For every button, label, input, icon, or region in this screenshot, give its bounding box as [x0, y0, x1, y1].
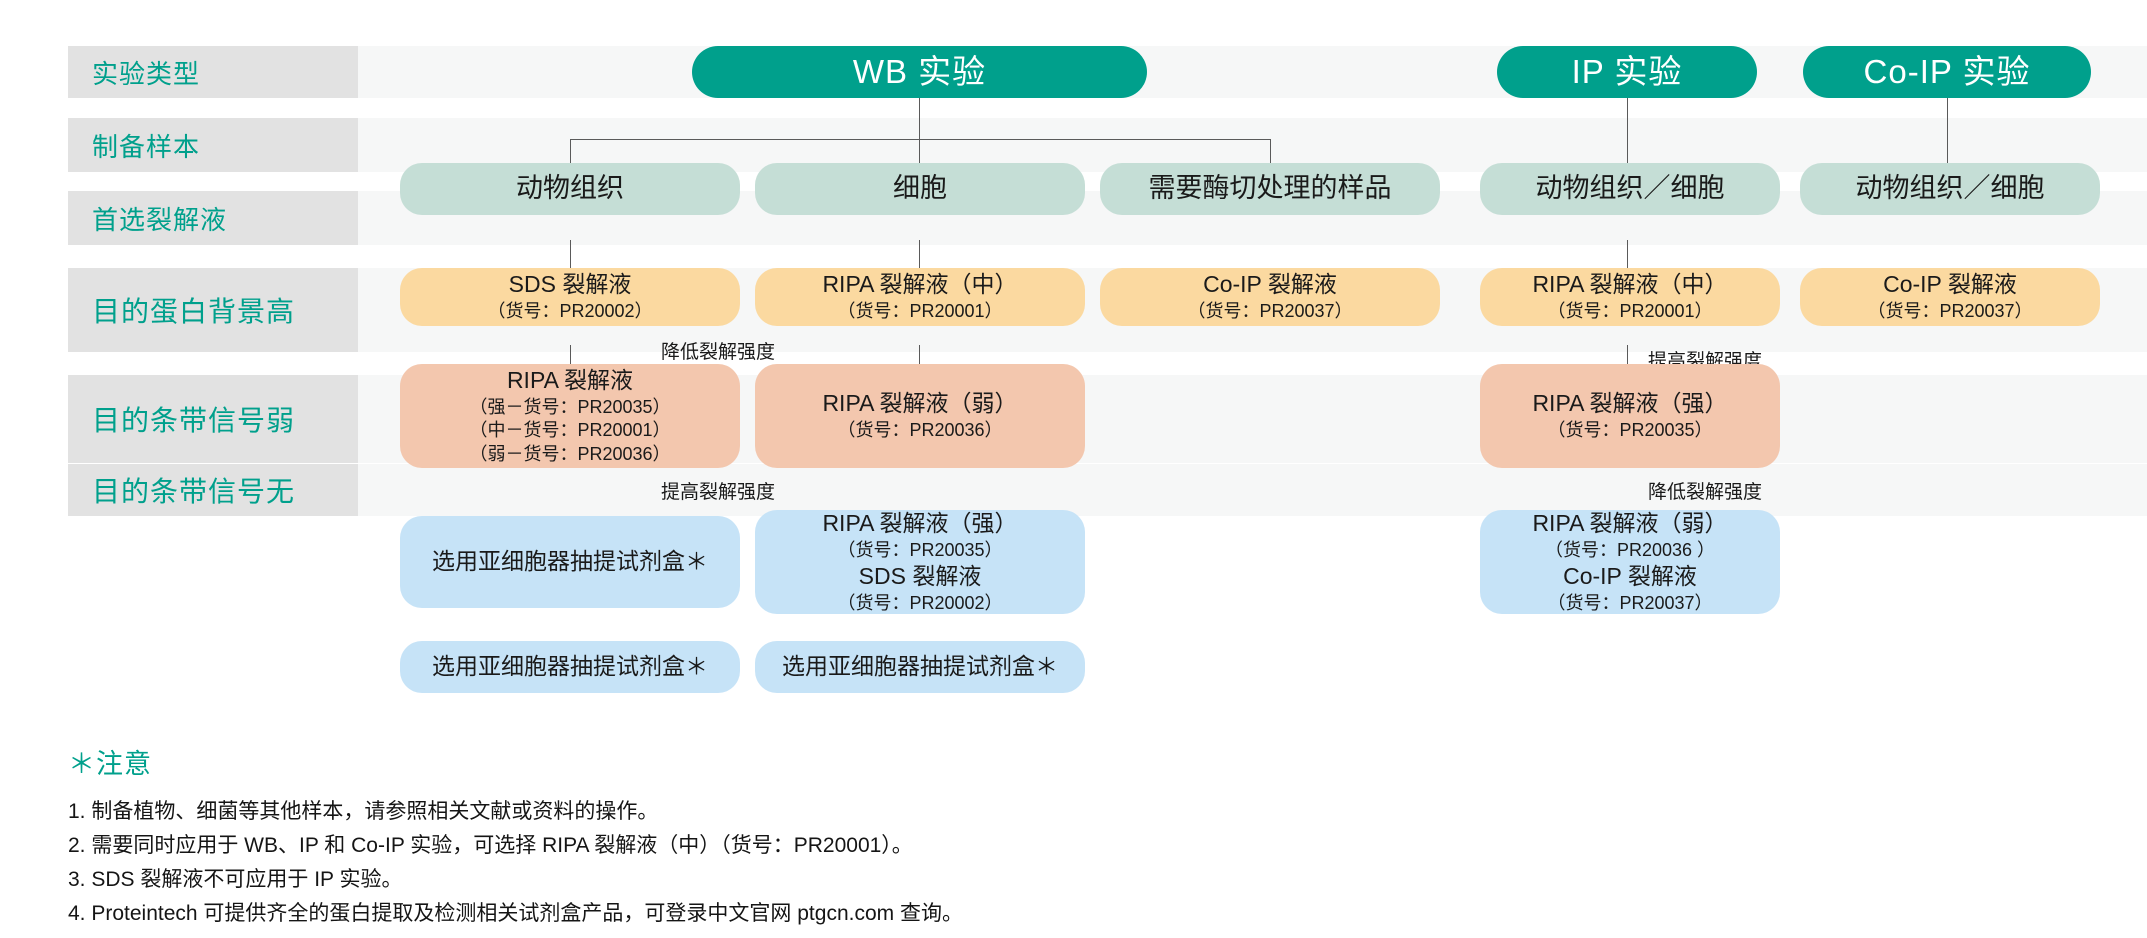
row-band-no-band	[68, 464, 2147, 516]
preferred-lysate-wb-tissue[interactable]: SDS 裂解液 （货号：PR20002）	[400, 268, 740, 326]
sample-label: 动物组织	[516, 171, 624, 206]
weak-band-ip[interactable]: RIPA 裂解液（弱） （货号：PR20036 ） Co-IP 裂解液 （货号：…	[1480, 510, 1780, 614]
row-label-no-band: 目的条带信号无	[68, 464, 358, 516]
flowchart-canvas: 实验类型 制备样本 首选裂解液 目的蛋白背景高 目的条带信号弱 目的条带信号无 …	[0, 0, 2147, 938]
lysate-catalog: （货号：PR20035）	[837, 539, 1002, 562]
row-band-weak-band	[68, 375, 2147, 463]
row-label-high-background: 目的蛋白背景高	[68, 268, 358, 352]
lysate-catalog: （货号：PR20037）	[1867, 300, 2032, 323]
note-item: 2. 需要同时应用于 WB、IP 和 Co-IP 实验，可选择 RIPA 裂解液…	[68, 829, 963, 863]
row-label-text: 目的条带信号无	[92, 470, 295, 510]
lysate-catalog: （货号：PR20002）	[487, 300, 652, 323]
connector-wb-stem	[919, 95, 920, 139]
caption-decrease-strength-ip: 降低裂解强度	[1648, 477, 1762, 504]
lysate-catalog: （弱－货号：PR20036）	[469, 443, 670, 466]
high-background-ip[interactable]: RIPA 裂解液（强） （货号：PR20035）	[1480, 364, 1780, 468]
row-label-weak-band: 目的条带信号弱	[68, 375, 358, 463]
lysate-name: RIPA 裂解液（强）	[1532, 389, 1727, 419]
high-background-wb-tissue[interactable]: RIPA 裂解液 （强－货号：PR20035） （中－货号：PR20001） （…	[400, 364, 740, 468]
row-label-text: 首选裂解液	[92, 200, 227, 237]
notes-title: ＊注意	[68, 742, 963, 781]
note-item: 3. SDS 裂解液不可应用于 IP 实验。	[68, 863, 963, 897]
notes-section: ＊注意 1. 制备植物、细菌等其他样本，请参照相关文献或资料的操作。 2. 需要…	[68, 742, 963, 931]
weak-band-wb-tissue[interactable]: 选用亚细胞器抽提试剂盒＊	[400, 516, 740, 608]
experiment-type-coip[interactable]: Co-IP 实验	[1803, 46, 2091, 98]
sample-coip-tissue-cell[interactable]: 动物组织／细胞	[1800, 163, 2100, 215]
experiment-type-label: WB 实验	[853, 51, 986, 94]
sample-label: 动物组织／细胞	[1856, 171, 2045, 206]
caption-decrease-strength-wb: 降低裂解强度	[661, 337, 775, 364]
no-band-wb-cell[interactable]: 选用亚细胞器抽提试剂盒＊	[755, 641, 1085, 693]
lysate-catalog: （货号：PR20035）	[1547, 419, 1712, 442]
experiment-type-label: IP 实验	[1572, 51, 1683, 94]
lysate-name: SDS 裂解液	[509, 270, 632, 300]
lysate-name: Co-IP 裂解液	[1203, 270, 1337, 300]
lysate-catalog: （中－货号：PR20001）	[469, 419, 670, 442]
experiment-type-wb[interactable]: WB 实验	[692, 46, 1147, 98]
row-label-text: 目的条带信号弱	[92, 399, 295, 439]
experiment-type-ip[interactable]: IP 实验	[1497, 46, 1757, 98]
lysate-name: RIPA 裂解液（弱）	[1532, 509, 1727, 539]
preferred-lysate-ip[interactable]: RIPA 裂解液（中） （货号：PR20001）	[1480, 268, 1780, 326]
row-label-text: 目的蛋白背景高	[92, 290, 295, 330]
lysate-catalog: （强－货号：PR20035）	[469, 396, 670, 419]
row-label-text: 制备样本	[92, 127, 200, 164]
caption-text: 降低裂解强度	[1648, 482, 1762, 503]
connector-wb-bus	[570, 139, 1270, 140]
sample-label: 需要酶切处理的样品	[1149, 171, 1392, 206]
row-label-experiment-type: 实验类型	[68, 46, 358, 98]
caption-text: 提高裂解强度	[661, 482, 775, 503]
lysate-catalog: （货号：PR20036）	[837, 419, 1002, 442]
preferred-lysate-wb-enzyme[interactable]: Co-IP 裂解液 （货号：PR20037）	[1100, 268, 1440, 326]
lysate-catalog: （货号：PR20001）	[837, 300, 1002, 323]
caption-increase-strength-wb: 提高裂解强度	[661, 477, 775, 504]
lysate-name: RIPA 裂解液（强）	[822, 509, 1017, 539]
sample-animal-tissue[interactable]: 动物组织	[400, 163, 740, 215]
no-band-wb-tissue[interactable]: 选用亚细胞器抽提试剂盒＊	[400, 641, 740, 693]
sample-label: 细胞	[893, 171, 947, 206]
weak-band-wb-cell[interactable]: RIPA 裂解液（强） （货号：PR20035） SDS 裂解液 （货号：PR2…	[755, 510, 1085, 614]
sample-ip-tissue-cell[interactable]: 动物组织／细胞	[1480, 163, 1780, 215]
row-label-sample-prep: 制备样本	[68, 118, 358, 172]
note-item: 1. 制备植物、细菌等其他样本，请参照相关文献或资料的操作。	[68, 795, 963, 829]
sample-label: 动物组织／细胞	[1536, 171, 1725, 206]
row-label-preferred-lysate: 首选裂解液	[68, 191, 358, 245]
sample-enzyme-treated[interactable]: 需要酶切处理的样品	[1100, 163, 1440, 215]
no-band-label: 选用亚细胞器抽提试剂盒＊	[782, 652, 1058, 682]
lysate-catalog: （货号：PR20001）	[1547, 300, 1712, 323]
no-band-label: 选用亚细胞器抽提试剂盒＊	[432, 652, 708, 682]
lysate-name: RIPA 裂解液	[507, 366, 633, 396]
lysate-catalog: （货号：PR20002）	[837, 592, 1002, 615]
lysate-name: RIPA 裂解液（弱）	[822, 389, 1017, 419]
lysate-catalog: （货号：PR20037）	[1187, 300, 1352, 323]
lysate-name: Co-IP 裂解液	[1883, 270, 2017, 300]
preferred-lysate-wb-cell[interactable]: RIPA 裂解液（中） （货号：PR20001）	[755, 268, 1085, 326]
weak-band-label: 选用亚细胞器抽提试剂盒＊	[432, 547, 708, 577]
lysate-name: RIPA 裂解液（中）	[822, 270, 1017, 300]
high-background-wb-cell[interactable]: RIPA 裂解液（弱） （货号：PR20036）	[755, 364, 1085, 468]
lysate-catalog: （货号：PR20037）	[1547, 592, 1712, 615]
sample-cell[interactable]: 细胞	[755, 163, 1085, 215]
lysate-name: RIPA 裂解液（中）	[1532, 270, 1727, 300]
row-label-text: 实验类型	[92, 54, 200, 91]
caption-text: 降低裂解强度	[661, 342, 775, 363]
lysate-catalog: （货号：PR20036 ）	[1545, 539, 1715, 562]
lysate-name: SDS 裂解液	[859, 562, 982, 592]
experiment-type-label: Co-IP 实验	[1864, 51, 2031, 94]
note-item: 4. Proteintech 可提供齐全的蛋白提取及检测相关试剂盒产品，可登录中…	[68, 897, 963, 931]
preferred-lysate-coip[interactable]: Co-IP 裂解液 （货号：PR20037）	[1800, 268, 2100, 326]
lysate-name: Co-IP 裂解液	[1563, 562, 1697, 592]
